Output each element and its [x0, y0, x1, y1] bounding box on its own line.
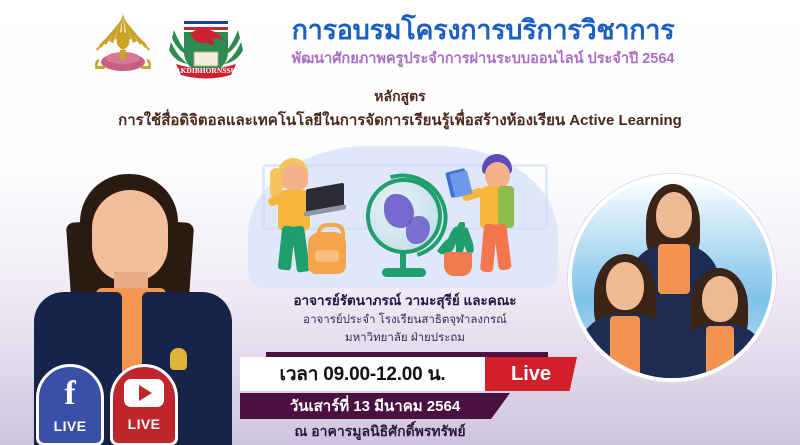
venue-text: ณ อาคารมูลนิธิศักดิ์พรทรัพย์: [230, 421, 530, 443]
live-badge-label: Live: [511, 363, 551, 386]
sakdibhornssub-foundation-crest-icon: SAKDIBHORNSSUB: [166, 8, 246, 84]
live-platform-buttons: f LIVE LIVE: [36, 364, 178, 445]
facebook-live-label: LIVE: [54, 418, 87, 434]
facebook-icon: f: [64, 379, 75, 409]
youtube-live-button[interactable]: LIVE: [110, 364, 178, 445]
date-bar: วันเสาร์ที่ 13 มีนาคม 2564: [240, 393, 510, 419]
facebook-live-button[interactable]: f LIVE: [36, 364, 104, 445]
students-learning-illustration: [248, 140, 558, 292]
youtube-icon: [124, 379, 164, 407]
title-block: การอบรมโครงการบริการวิชาการ พัฒนาศักยภาพ…: [248, 16, 718, 68]
date-text: วันเสาร์ที่ 13 มีนาคม 2564: [290, 394, 460, 418]
chulalongkorn-university-emblem-icon: [90, 8, 156, 82]
crest-text: SAKDIBHORNSSUB: [171, 66, 241, 75]
speaker-info: อาจารย์รัตนาภรณ์ วามะสุรีย์ และคณะ อาจาร…: [230, 292, 580, 347]
time-text: เวลา 09.00-12.00 น.: [280, 359, 446, 389]
sub-title: พัฒนาศักยภาพครูประจำการผ่านระบบออนไลน์ ป…: [248, 51, 718, 68]
poster-header: SAKDIBHORNSSUB การอบรมโครงการบริการวิชาก…: [0, 0, 800, 140]
course-name: การใช้สื่อดิจิตอลและเทคโนโลยีในการจัดการ…: [0, 108, 800, 132]
main-title: การอบรมโครงการบริการวิชาการ: [248, 16, 718, 46]
course-label: หลักสูตร: [0, 86, 800, 108]
time-bar: เวลา 09.00-12.00 น.: [240, 357, 485, 391]
backpack-illustration: [308, 232, 346, 274]
youtube-live-label: LIVE: [128, 416, 161, 432]
speaker-name: อาจารย์รัตนาภรณ์ วามะสุรีย์ และคณะ: [230, 292, 580, 310]
speaker-role-line2: มหาวิทยาลัย ฝ่ายประถม: [230, 330, 580, 347]
seminar-poster: SAKDIBHORNSSUB การอบรมโครงการบริการวิชาก…: [0, 0, 800, 445]
three-presenters-circular-photo: [572, 178, 772, 378]
speaker-role-line1: อาจารย์ประจำ โรงเรียนสาธิตจุฬาลงกรณ์: [230, 312, 580, 329]
portrait-face: [92, 190, 168, 282]
play-triangle-icon: [139, 385, 152, 401]
logo-group: SAKDIBHORNSSUB: [90, 8, 246, 84]
live-badge[interactable]: Live: [485, 357, 577, 391]
